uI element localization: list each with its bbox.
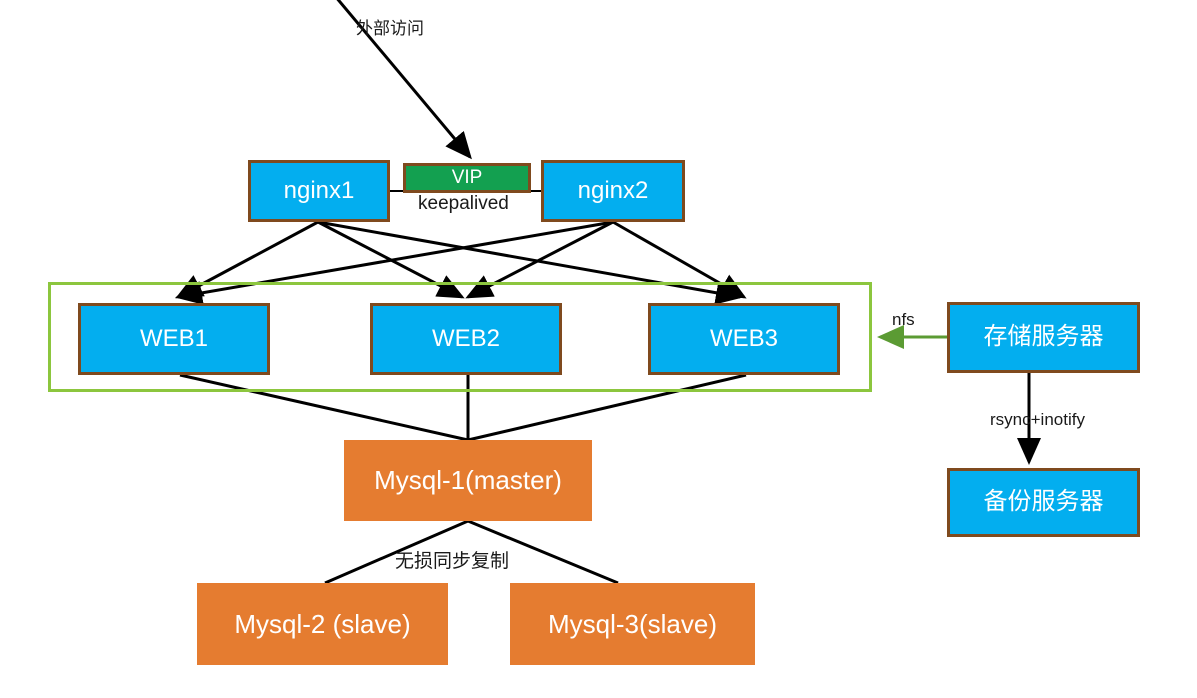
node-mysql-master[interactable]: Mysql-1(master) [344,440,592,521]
node-vip[interactable]: VIP [403,163,531,193]
node-nginx2[interactable]: nginx2 [541,160,685,222]
node-web2[interactable]: WEB2 [370,303,562,375]
label-nfs: nfs [892,310,915,330]
node-web3[interactable]: WEB3 [648,303,840,375]
node-backup-server[interactable]: 备份服务器 [947,468,1140,537]
node-nginx1[interactable]: nginx1 [248,160,390,222]
architecture-diagram: nginx1 VIP nginx2 WEB1 WEB2 WEB3 存储服务器 备… [0,0,1197,698]
label-keepalived: keepalived [418,193,509,215]
label-rsync-inotify: rsync+inotify [990,410,1085,430]
label-external-access: 外部访问 [356,14,424,39]
node-mysql-slave-3[interactable]: Mysql-3(slave) [510,583,755,665]
node-storage-server[interactable]: 存储服务器 [947,302,1140,373]
node-mysql-slave-2[interactable]: Mysql-2 (slave) [197,583,448,665]
label-replication: 无损同步复制 [395,546,509,573]
node-web1[interactable]: WEB1 [78,303,270,375]
